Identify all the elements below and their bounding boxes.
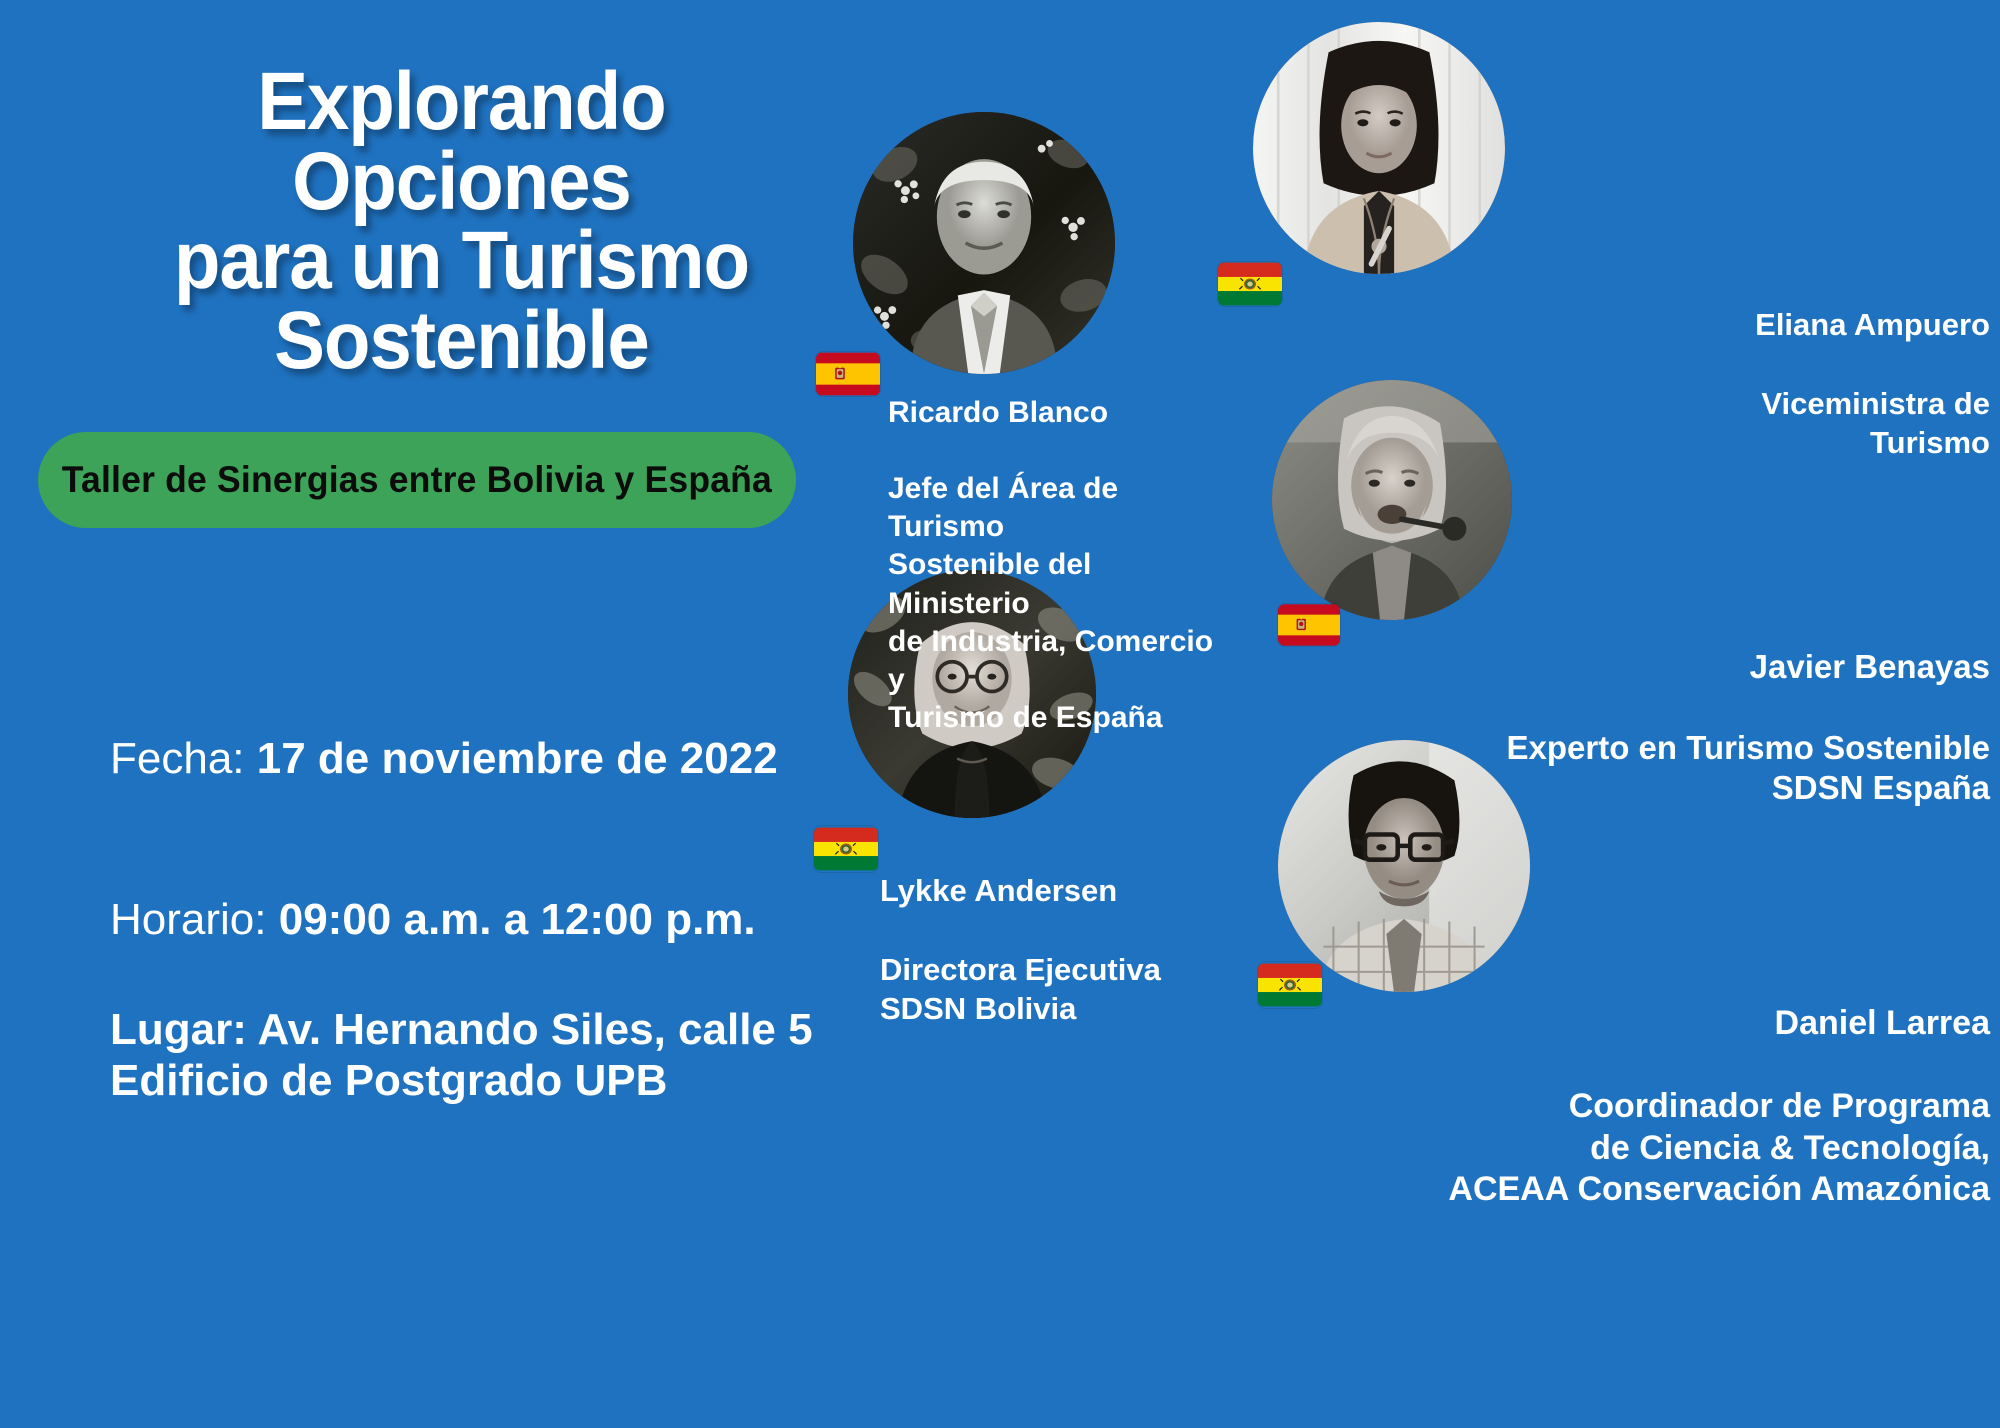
bolivia-flag-icon [1218,262,1282,306]
detail-fecha-label: Fecha: [110,734,257,783]
speaker-name: Daniel Larrea [1380,1003,1990,1044]
speaker-role: Jefe del Área de Turismo Sostenible del … [888,470,1228,737]
speaker-lykke-andersen: Lykke Andersen Directora Ejecutiva SDSN … [880,832,1260,1068]
workshop-badge-label: Taller de Sinergias entre Bolivia y Espa… [62,459,772,501]
spain-flag-icon [816,352,880,396]
bolivia-flag-icon [814,826,878,872]
detail-fecha: Fecha: 17 de noviembre de 2022 [110,682,830,785]
speaker-javier-benayas: Javier Benayas Experto en Turismo Sosten… [1430,606,1990,849]
speaker-role: Coordinador de Programa de Ciencia & Tec… [1380,1086,1990,1210]
portrait-ricardo-blanco [853,112,1115,374]
spain-flag-icon [1278,604,1340,646]
portrait-eliana-ampuero [1253,22,1505,274]
detail-lugar: Lugar: Av. Hernando Siles, calle 5 Edifi… [110,1004,830,1107]
speaker-eliana-ampuero: Eliana Ampuero Viceministra de Turismo [1520,266,1990,502]
speaker-daniel-larrea: Daniel Larrea Coordinador de Programa de… [1380,962,1990,1252]
detail-horario-value: 09:00 a.m. a 12:00 p.m. [279,895,756,944]
portrait-javier-benayas [1272,380,1512,620]
page-title: Explorando Opciones para un Turismo Sost… [108,62,815,380]
speaker-role: Experto en Turismo Sostenible SDSN Españ… [1430,728,1990,809]
detail-horario-label: Horario: [110,895,279,944]
speaker-ricardo-blanco: Ricardo Blanco Jefe del Área de Turismo … [888,356,1228,775]
speaker-name: Lykke Andersen [880,871,1260,910]
speaker-name: Javier Benayas [1430,647,1990,688]
speaker-role: Viceministra de Turismo [1520,384,1990,463]
speaker-name: Ricardo Blanco [888,394,1228,432]
workshop-badge: Taller de Sinergias entre Bolivia y Espa… [38,432,796,528]
event-poster: Explorando Opciones para un Turismo Sost… [0,0,2000,1428]
speaker-role: Directora Ejecutiva SDSN Bolivia [880,950,1260,1029]
bolivia-flag-icon [1258,962,1322,1008]
speaker-name: Eliana Ampuero [1520,305,1990,344]
detail-horario: Horario: 09:00 a.m. a 12:00 p.m. [110,843,830,946]
detail-fecha-value: 17 de noviembre de 2022 [257,734,778,783]
event-details: Fecha: 17 de noviembre de 2022 Horario: … [110,682,830,1107]
